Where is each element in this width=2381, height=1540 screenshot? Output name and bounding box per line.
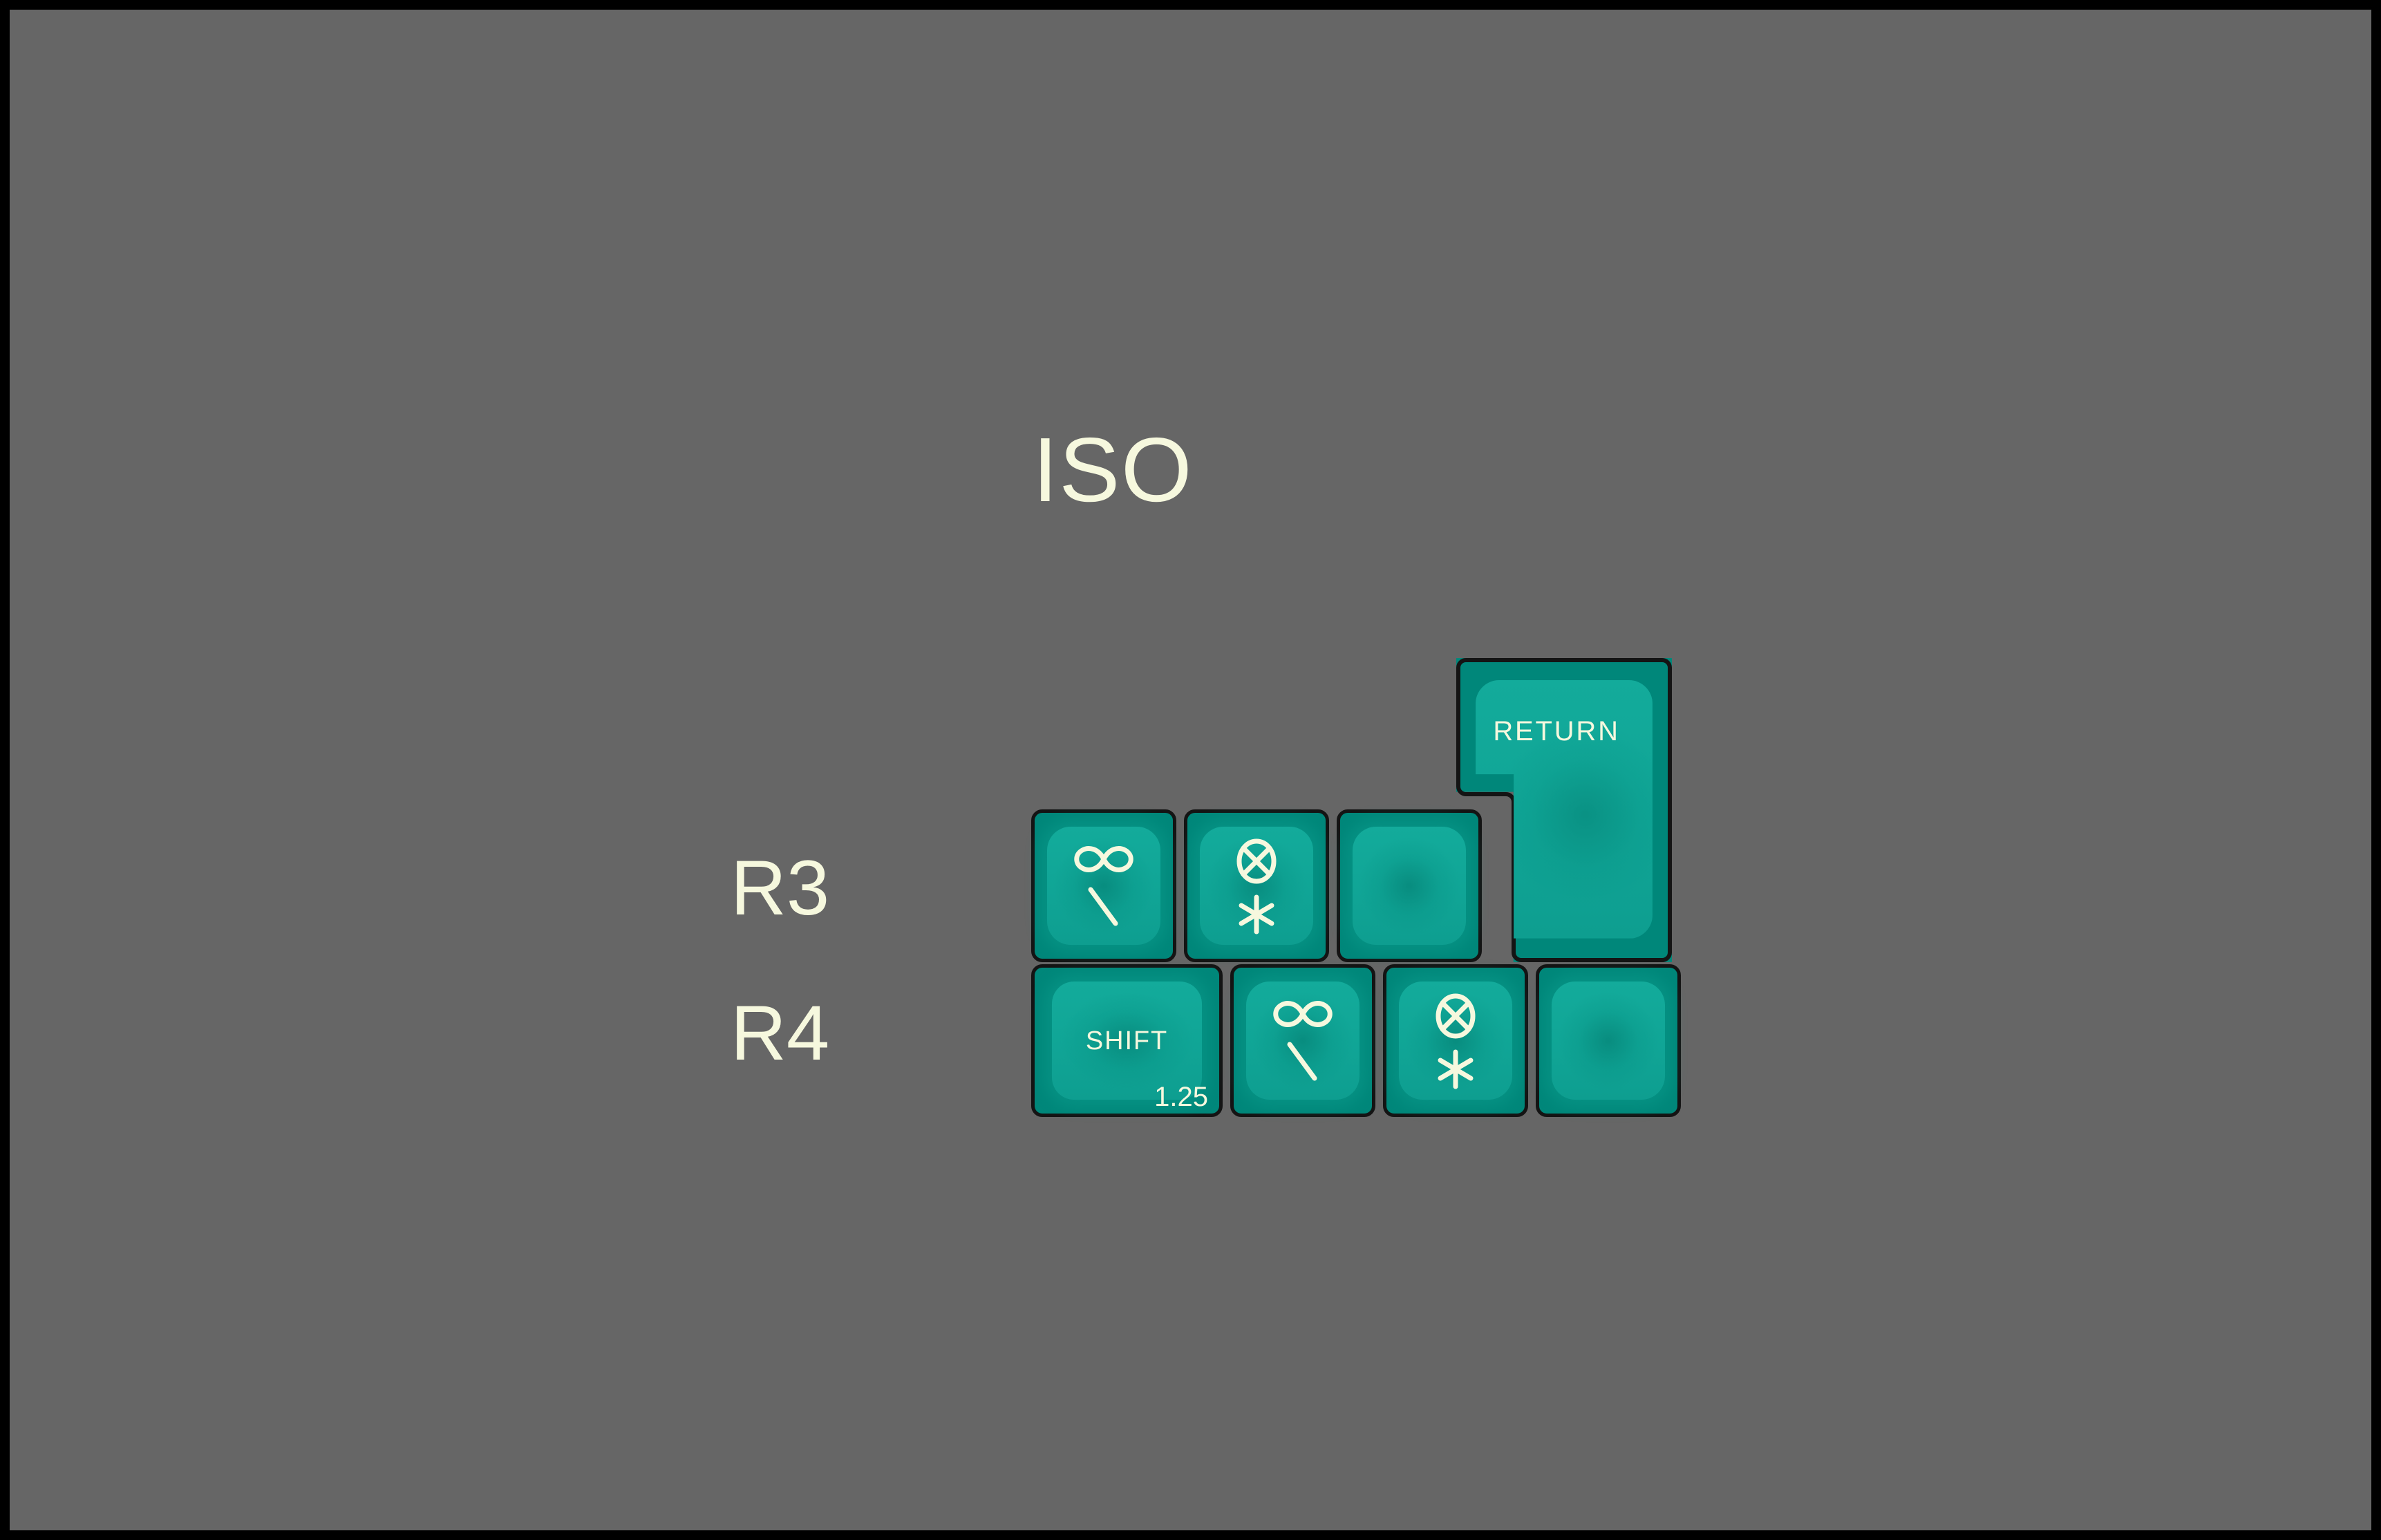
screenshot-canvas: ISO R3 R4 [0, 0, 2381, 1540]
keycap-surface [1399, 982, 1512, 1100]
key-r3-circled-x-asterisk[interactable] [1184, 809, 1329, 962]
keycap-surface [1200, 827, 1312, 945]
key-label-shift: SHIFT [1086, 1028, 1168, 1054]
circled-x-icon [1232, 835, 1281, 888]
keycap-surface [1552, 982, 1664, 1100]
key-r4-shift[interactable]: SHIFT 1.25 [1031, 964, 1223, 1117]
asterisk-icon [1233, 892, 1280, 937]
keycap-surface [1246, 982, 1359, 1100]
key-size-label: 1.25 [1154, 1083, 1208, 1111]
legend-infinity-backslash [1068, 841, 1140, 932]
legend-circled-x-asterisk [1431, 990, 1480, 1092]
legend-circled-x-asterisk [1232, 835, 1281, 937]
keycap-surface [1047, 827, 1160, 945]
infinity-icon [1068, 841, 1140, 878]
infinity-icon [1267, 995, 1339, 1033]
key-label-return: RETURN [1456, 717, 1657, 745]
key-iso-enter-return[interactable]: RETURN [1456, 658, 1672, 962]
key-r4-blank[interactable] [1536, 964, 1681, 1117]
asterisk-icon [1432, 1046, 1479, 1092]
backslash-icon [1275, 1037, 1330, 1087]
layout-stage: ISO R3 R4 [10, 10, 2371, 1530]
key-r4-circled-x-asterisk[interactable] [1383, 964, 1528, 1117]
circled-x-icon [1431, 990, 1480, 1042]
row-label-r3: R3 [731, 849, 829, 927]
key-r4-infinity-backslash[interactable] [1230, 964, 1375, 1117]
backslash-icon [1076, 882, 1131, 932]
page-title: ISO [1033, 424, 1193, 516]
row-label-r4: R4 [731, 995, 829, 1072]
key-r3-infinity-backslash[interactable] [1031, 809, 1176, 962]
legend-infinity-backslash [1267, 995, 1339, 1087]
keycap-surface [1353, 827, 1465, 945]
